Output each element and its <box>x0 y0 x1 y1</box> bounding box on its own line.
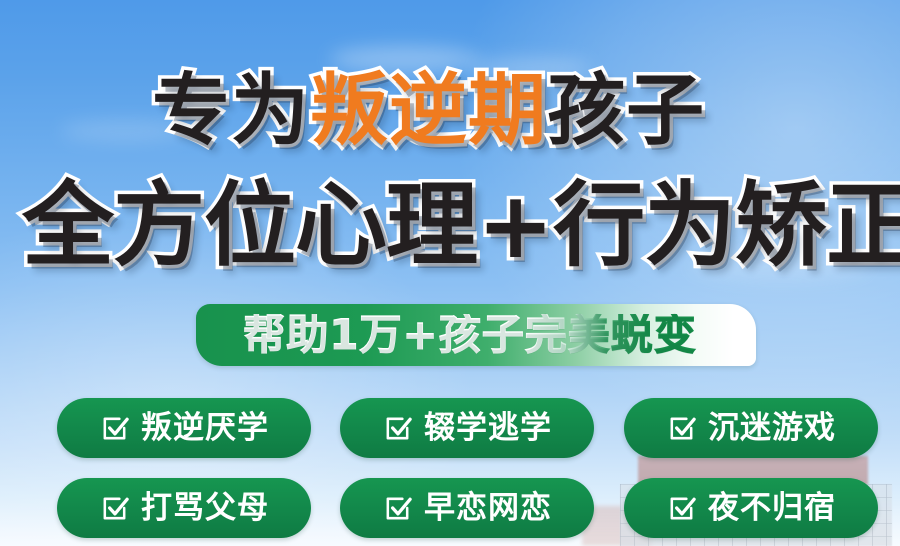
headline-line1-segment-2-accent: 叛逆期 <box>310 72 547 150</box>
tag-pill-game-addiction[interactable]: 沉迷游戏 <box>624 398 878 458</box>
tag-pill-label: 沉迷游戏 <box>708 413 836 444</box>
headline-line2-segment-1: 全方位心理+行为矫正 <box>22 180 900 272</box>
headline-line-2: 全方位心理+行为矫正 <box>22 180 900 272</box>
checkbox-check-icon <box>382 413 413 444</box>
checkbox-check-icon <box>666 493 697 524</box>
headline-line-1: 专为叛逆期孩子 <box>152 72 705 150</box>
subtitle-text: 帮助1万+孩子完美蜕变 <box>243 314 696 356</box>
subtitle-banner: 帮助1万+孩子完美蜕变 <box>196 304 756 366</box>
tag-pill-abusing-parents[interactable]: 打骂父母 <box>57 478 311 538</box>
headline-line1-segment-1: 专为 <box>152 72 310 150</box>
checkbox-check-icon <box>99 413 130 444</box>
tag-pill-staying-out-overnight[interactable]: 夜不归宿 <box>624 478 878 538</box>
tag-pill-label: 夜不归宿 <box>708 493 836 524</box>
promo-banner: 专为叛逆期孩子 全方位心理+行为矫正 帮助1万+孩子完美蜕变 叛逆厌学 辍学逃学… <box>0 0 900 546</box>
tag-pill-label: 辍学逃学 <box>424 413 552 444</box>
tag-pill-label: 打骂父母 <box>141 493 269 524</box>
tag-pill-dropout-truancy[interactable]: 辍学逃学 <box>340 398 594 458</box>
tag-pill-rebellious-school-aversion[interactable]: 叛逆厌学 <box>57 398 311 458</box>
checkbox-check-icon <box>99 493 130 524</box>
checkbox-check-icon <box>382 493 413 524</box>
tag-pill-early-online-romance[interactable]: 早恋网恋 <box>340 478 594 538</box>
checkbox-check-icon <box>666 413 697 444</box>
tag-pill-label: 叛逆厌学 <box>141 413 269 444</box>
tag-pill-label: 早恋网恋 <box>424 493 552 524</box>
headline-line1-segment-3: 孩子 <box>547 72 705 150</box>
